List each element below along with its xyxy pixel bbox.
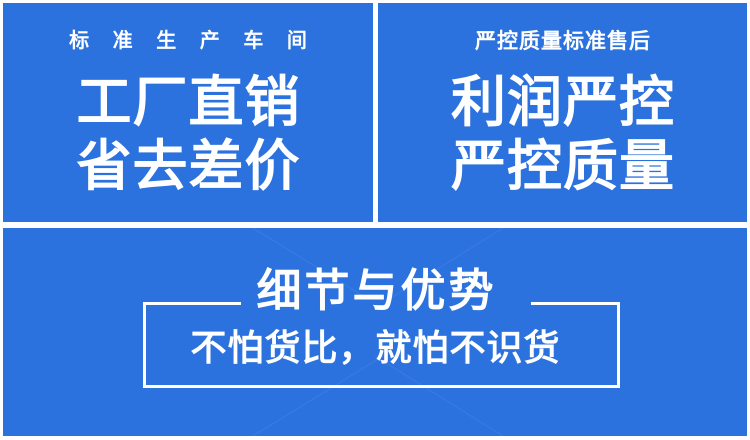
panel-quality-control-headline-line1: 利润严控 [378,75,747,130]
panel-details-advantages-subtitle: 不怕货比，就怕不识货 [3,330,747,366]
panel-quality-control: 严控质量标准售后 利润严控 严控质量 [378,3,747,222]
panel-factory-direct-eyebrow: 标 准 生 产 车 间 [3,31,373,51]
panel-factory-direct: 标 准 生 产 车 间 工厂直销 省去差价 [3,3,373,222]
panel-quality-control-eyebrow: 严控质量标准售后 [378,31,747,52]
promo-banner: 标 准 生 产 车 间 工厂直销 省去差价 严控质量标准售后 利润严控 严控质量… [0,0,750,440]
panel-factory-direct-headline-line1: 工厂直销 [3,75,373,130]
panel-details-advantages-title: 细节与优势 [3,268,747,313]
panel-quality-control-headline-line2: 严控质量 [378,139,747,194]
panel-details-advantages: 细节与优势 不怕货比，就怕不识货 [3,228,747,436]
panel-factory-direct-headline-line2: 省去差价 [3,139,373,194]
